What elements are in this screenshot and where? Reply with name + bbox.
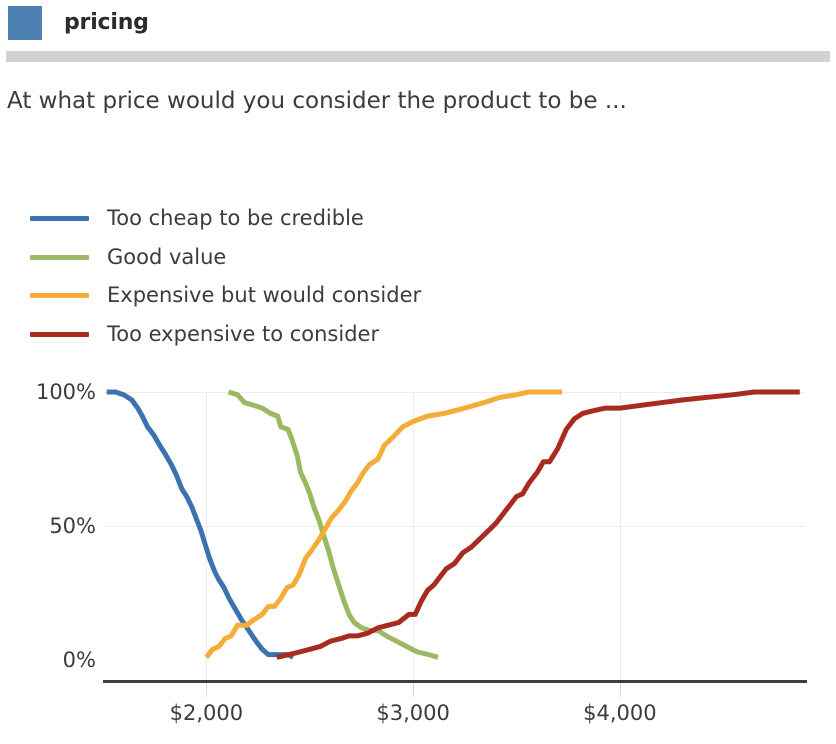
legend-color-swatch xyxy=(30,255,89,260)
legend-item[interactable]: Too expensive to consider xyxy=(30,319,500,358)
page-title: pricing xyxy=(64,8,149,38)
legend-item-label: Expensive but would consider xyxy=(107,280,421,311)
legend-item[interactable]: Expensive but would consider xyxy=(30,280,500,319)
panel-color-swatch xyxy=(8,6,42,40)
x-axis-tick-label: $4,000 xyxy=(560,701,680,725)
legend-item-label: Too cheap to be credible xyxy=(107,203,364,234)
header-divider xyxy=(6,51,830,62)
question-text: At what price would you consider the pro… xyxy=(7,86,627,116)
series-line[interactable] xyxy=(277,392,800,657)
legend-color-swatch xyxy=(30,293,89,298)
x-axis-tick-label: $2,000 xyxy=(146,701,266,725)
panel-header: pricing xyxy=(0,0,836,46)
legend-color-swatch xyxy=(30,332,89,337)
series-line[interactable] xyxy=(206,392,562,657)
legend-item[interactable]: Too cheap to be credible xyxy=(30,203,500,242)
legend-color-swatch xyxy=(30,216,89,221)
x-axis-tick-label: $3,000 xyxy=(353,701,473,725)
price-sensitivity-chart: 0%50%100% $2,000$3,000$4,000 xyxy=(0,370,836,744)
series-line[interactable] xyxy=(107,392,294,657)
x-axis-tick-mark xyxy=(206,683,207,697)
legend-item-label: Good value xyxy=(107,242,226,273)
series-lines xyxy=(0,370,836,744)
x-axis-tick-mark xyxy=(413,683,414,697)
legend-item-label: Too expensive to consider xyxy=(107,319,379,350)
legend-item[interactable]: Good value xyxy=(30,242,500,281)
chart-legend: Too cheap to be credibleGood valueExpens… xyxy=(30,203,500,357)
x-axis-tick-mark xyxy=(620,683,621,697)
